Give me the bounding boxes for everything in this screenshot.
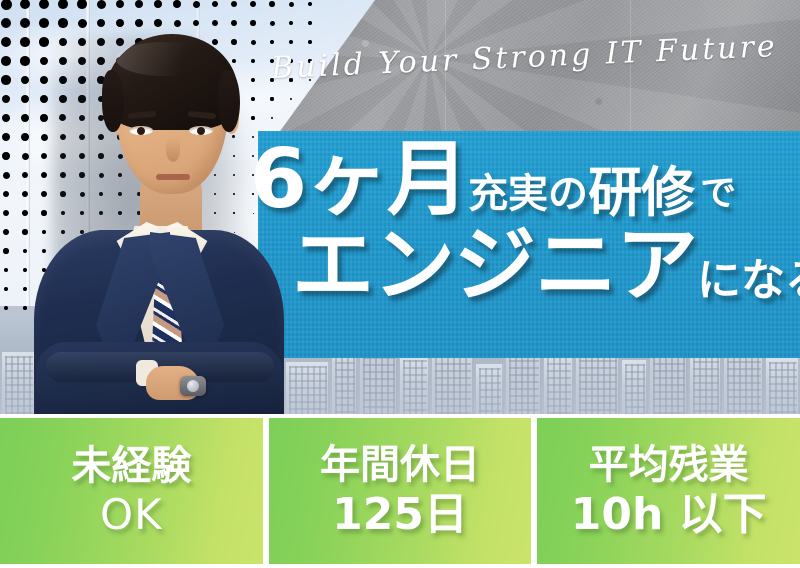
headline-training: 研修 (588, 166, 694, 220)
headline-particle-de: で (694, 176, 736, 220)
headline-line-1: 6ヶ月 充実の 研修 で (246, 140, 800, 220)
headline-become: になる!! (697, 259, 800, 307)
wristwatch (180, 376, 206, 396)
headline-block: 6ヶ月 充実の 研修 で エンジニア になる!! (246, 140, 800, 355)
hair-side (218, 70, 240, 132)
feature-value: 125日 (332, 493, 468, 537)
headline-fulfilling: 充実の (468, 174, 588, 220)
feature-value: OK (100, 494, 163, 536)
feature-title: 年間休日 (320, 445, 480, 485)
feature-box-average-overtime[interactable]: 平均残業 10h 以下 (537, 418, 800, 564)
eye (189, 126, 213, 135)
nose (166, 138, 180, 162)
headline-engineer: エンジニア (292, 226, 697, 306)
feature-value: 10h 以下 (571, 493, 767, 537)
feature-title: 平均残業 (589, 445, 749, 485)
mouth (156, 174, 190, 180)
eye (129, 126, 153, 135)
feature-box-annual-holidays[interactable]: 年間休日 125日 (269, 418, 532, 564)
panel-seam (630, 0, 631, 145)
feature-box-no-experience[interactable]: 未経験 OK (0, 418, 263, 564)
feature-boxes: 未経験 OK 年間休日 125日 平均残業 10h 以下 (0, 418, 800, 564)
feature-title: 未経験 (71, 446, 191, 486)
hair-side (102, 70, 124, 132)
headline-line-2: エンジニア になる!! (246, 226, 800, 306)
recruitment-banner: Build Your Strong IT Future (0, 0, 800, 568)
headline-6months: 6ヶ月 (250, 140, 468, 220)
hero-photo-area: Build Your Strong IT Future (0, 0, 800, 414)
